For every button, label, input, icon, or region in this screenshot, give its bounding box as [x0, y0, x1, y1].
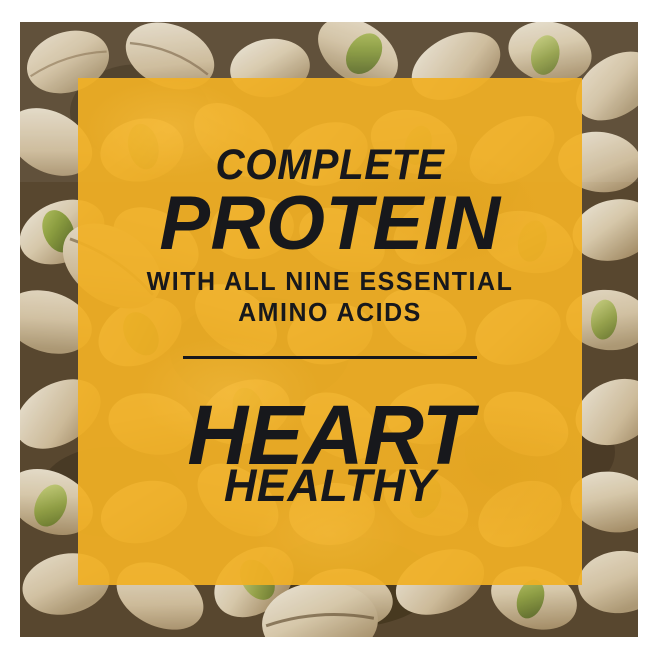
horizontal-rule-divider — [183, 356, 477, 359]
subhead-line-1: WITH ALL NINE ESSENTIAL — [88, 266, 572, 297]
headline-main: PROTEIN — [78, 186, 582, 262]
claim-copy: COMPLETE PROTEIN WITH ALL NINE ESSENTIAL… — [78, 78, 582, 585]
claim-panel: COMPLETE PROTEIN WITH ALL NINE ESSENTIAL… — [78, 78, 582, 585]
product-claim-poster: COMPLETE PROTEIN WITH ALL NINE ESSENTIAL… — [0, 0, 660, 660]
subhead-line-2: AMINO ACIDS — [88, 297, 572, 328]
claim-sub: HEALTHY — [78, 463, 582, 508]
